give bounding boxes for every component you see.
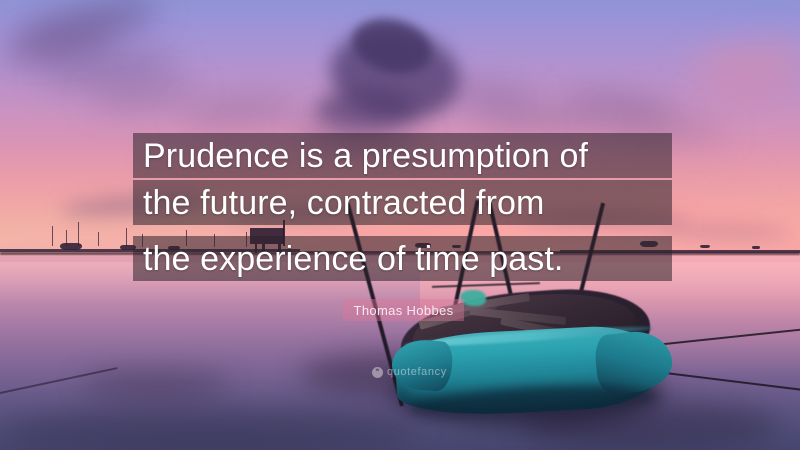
water-reflection bbox=[0, 408, 420, 450]
attribution-band: Thomas Hobbes bbox=[343, 299, 464, 321]
quote-poster: Prudence is a presumption of the future,… bbox=[0, 0, 800, 450]
quote-line-3: the experience of time past. bbox=[133, 242, 563, 276]
boat-mast-silhouette bbox=[126, 228, 127, 246]
boat-mast-silhouette bbox=[98, 232, 99, 246]
watermark[interactable]: ❞ quotefancy bbox=[372, 366, 447, 378]
watermark-label: quotefancy bbox=[387, 366, 447, 378]
quotefancy-badge-icon: ❞ bbox=[372, 367, 383, 378]
distant-boat-silhouette bbox=[700, 245, 710, 248]
attribution-author: Thomas Hobbes bbox=[354, 303, 454, 318]
distant-boat-silhouette bbox=[752, 246, 760, 249]
quote-band-3: the experience of time past. bbox=[133, 236, 672, 281]
water-reflection bbox=[80, 368, 230, 400]
quote-band-1: Prudence is a presumption of bbox=[133, 133, 672, 178]
quote-line-1: Prudence is a presumption of bbox=[133, 139, 588, 173]
quote-line-2: the future, contracted from bbox=[133, 186, 544, 220]
boat-mast-silhouette bbox=[52, 226, 53, 246]
quote-band-2: the future, contracted from bbox=[133, 180, 672, 225]
